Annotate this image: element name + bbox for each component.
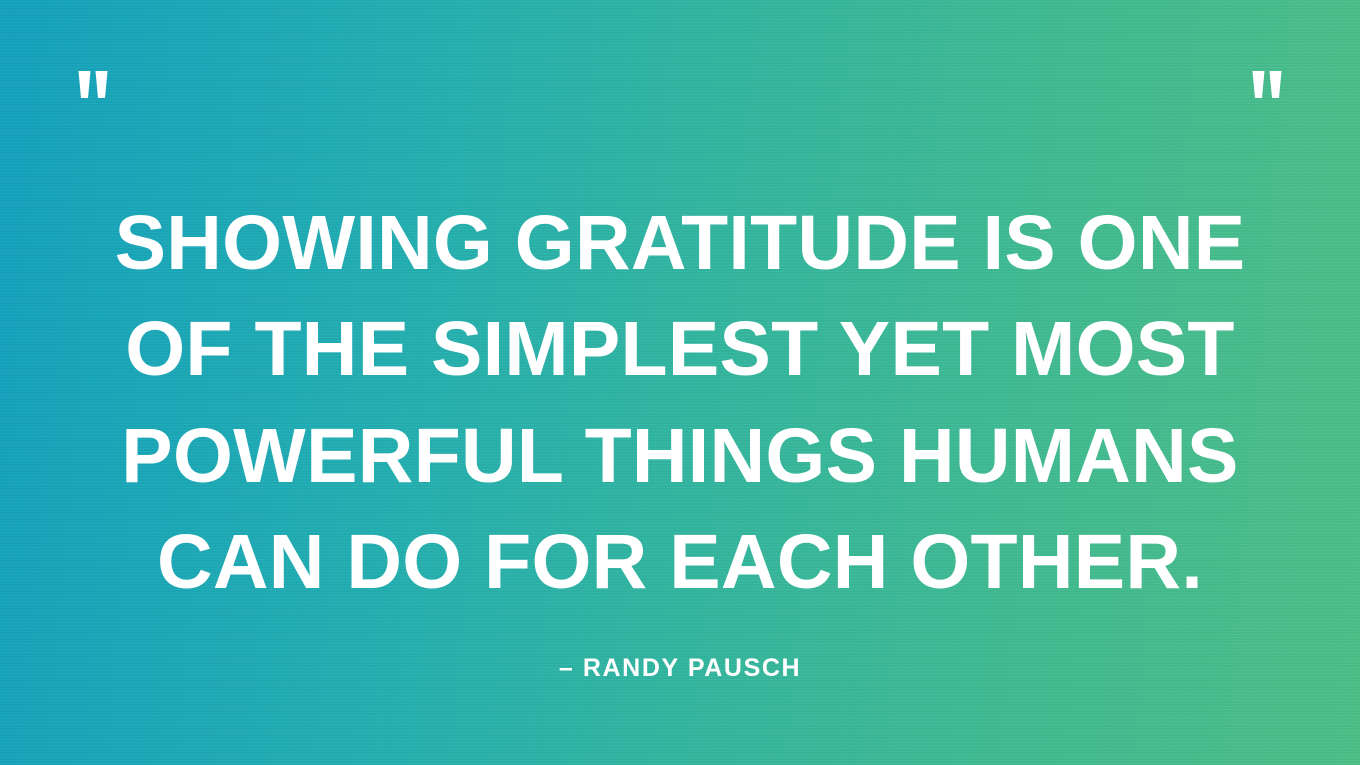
quote-line: can do for each other. <box>88 509 1272 615</box>
quote-attribution: – Randy Pausch <box>0 654 1360 683</box>
quote-line: Showing gratitude is one <box>88 190 1272 296</box>
quote-mark-close-icon <box>1252 71 1282 104</box>
quote-card: Showing gratitude is one of the simplest… <box>0 0 1360 765</box>
quote-line: of the simplest yet most <box>88 296 1272 402</box>
quote-text: Showing gratitude is one of the simplest… <box>40 190 1320 615</box>
quote-line: powerful things humans <box>88 403 1272 509</box>
quote-mark-open-icon <box>78 71 108 104</box>
